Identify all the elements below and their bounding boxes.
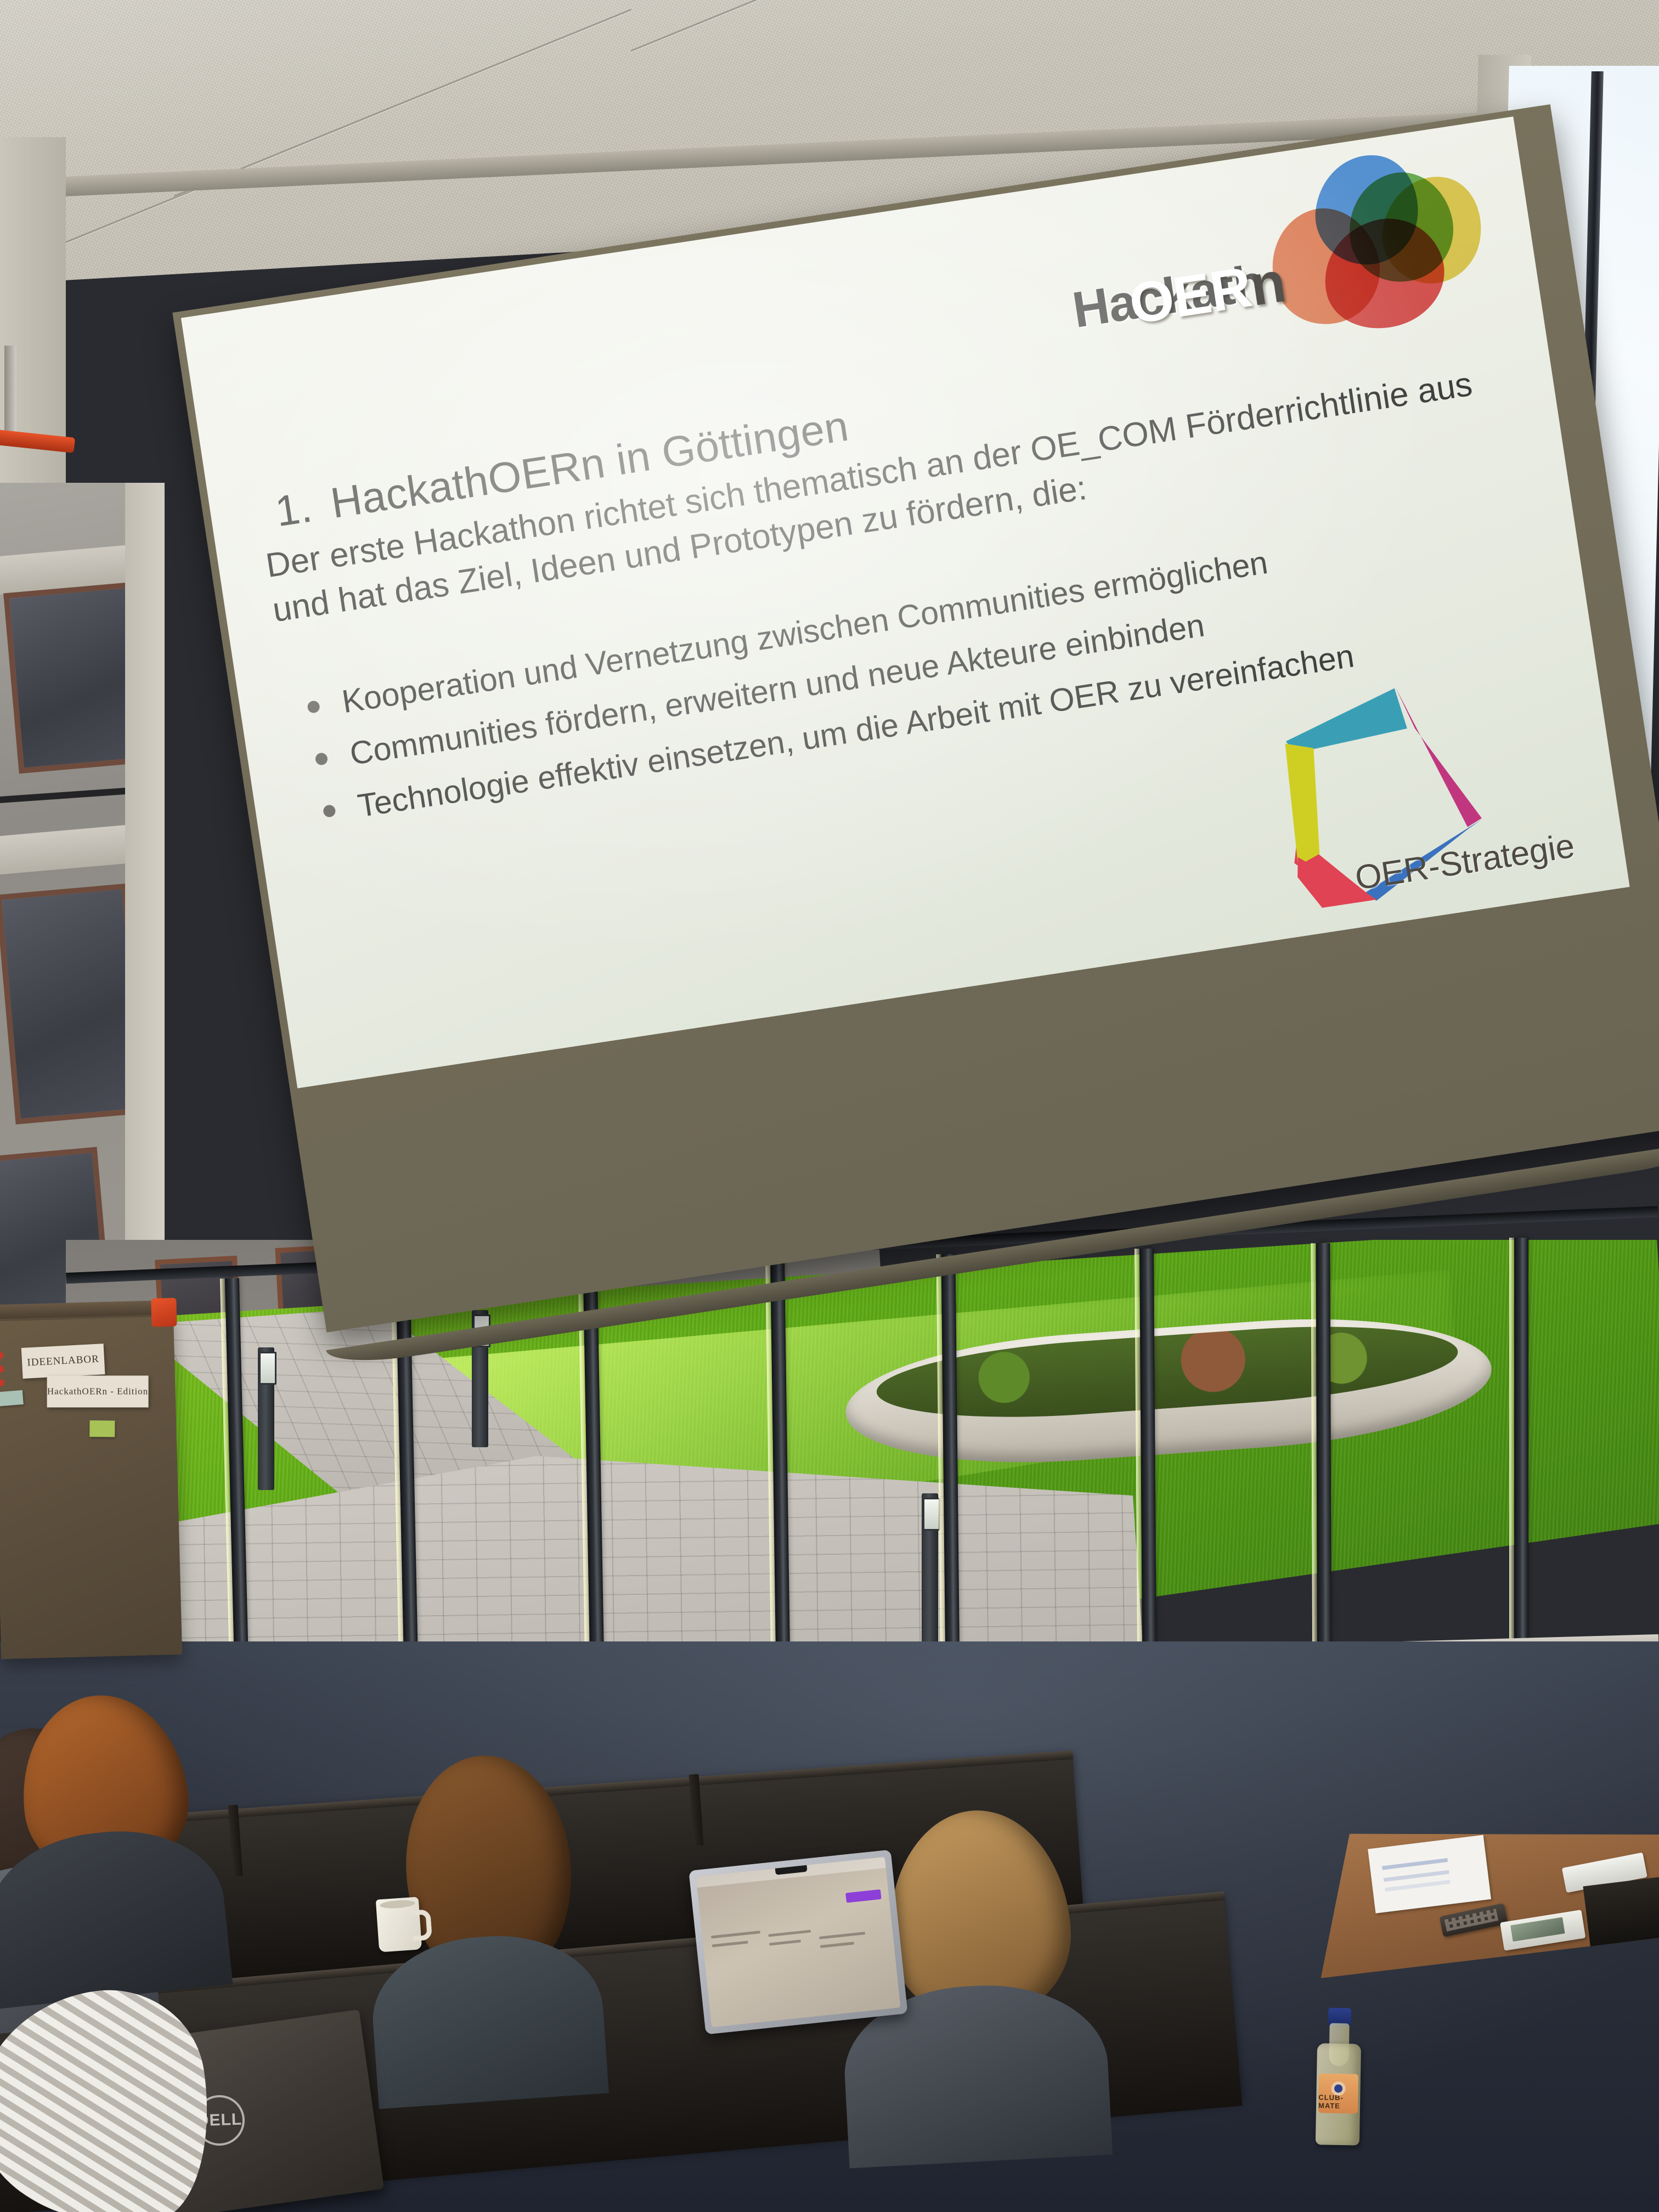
pinboard-sticky-note: [0, 1390, 24, 1406]
ceiling-seam: [630, 0, 1017, 52]
club-mate-bottle: CLUB-MATE: [1316, 2007, 1362, 2145]
pinboard-leg: [4, 346, 16, 444]
macbook-laptop[interactable]: [689, 1849, 907, 2034]
laptop-lid: [689, 1849, 907, 2034]
pinboard-magnets: [0, 1352, 8, 1390]
hackathoern-word-light: OERn: [1125, 250, 1289, 337]
pinboard-sticky-note: [89, 1420, 115, 1437]
pinboard-sign-hackathoern: HackathOERn - Edition: [47, 1375, 149, 1407]
facade-pillar: [125, 483, 165, 1306]
wall-column-left: [0, 137, 66, 521]
slide-title-number: 1.: [272, 482, 315, 535]
pinboard-sign-ideenlabor: IDEENLABOR: [21, 1344, 105, 1379]
laptop-accent-button[interactable]: [845, 1889, 882, 1903]
laptop-screen: [696, 1857, 901, 2028]
lectern-desk: [1299, 1818, 1659, 1979]
pinboard-corner-cap: [151, 1298, 177, 1327]
hackathoern-oer: OER: [1125, 255, 1255, 336]
bottle-label: CLUB-MATE: [1318, 2073, 1358, 2113]
oer-strategie-logo: OER-Strategie: [1255, 647, 1545, 914]
window-left-facade: [0, 483, 165, 1306]
coffee-mug: [376, 1897, 422, 1952]
photograph: Hackath OERn 1.HackathOERn in Göttingen …: [0, 0, 1659, 2212]
pinboard: IDEENLABOR HackathOERn - Edition: [0, 1309, 182, 1659]
lectern-equipment-box: [1583, 1875, 1659, 1946]
hackathoern-petals: [1256, 140, 1486, 329]
bollard-light: [922, 1493, 938, 1658]
bollard-light: [258, 1347, 274, 1490]
projection-screen: Hackath OERn 1.HackathOERn in Göttingen …: [172, 104, 1659, 1354]
